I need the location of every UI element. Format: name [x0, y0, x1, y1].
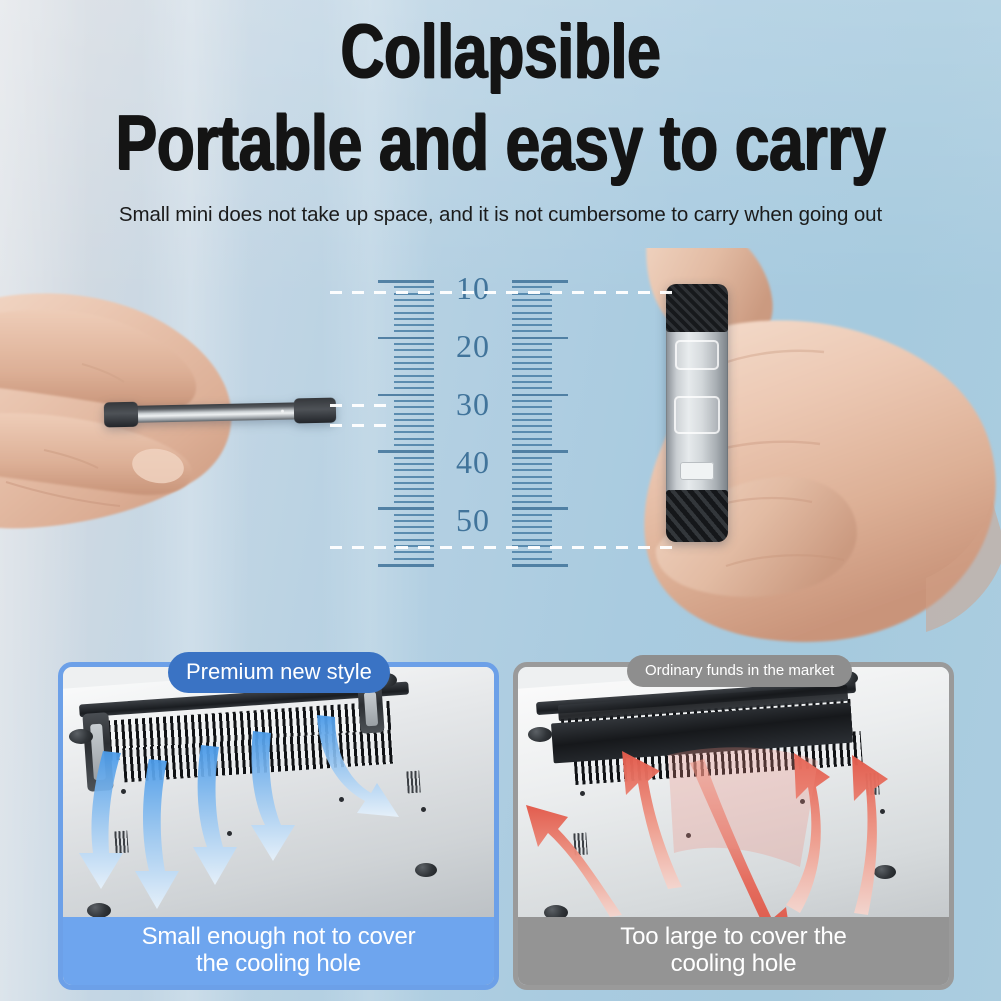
ruler-label-40: 40 [434, 444, 512, 481]
ruler-tick-minor [394, 444, 434, 446]
ruler-tick-minor [394, 375, 434, 377]
ruler-tick-minor [512, 431, 552, 433]
ruler-tick-minor [512, 558, 552, 560]
ruler-tick-minor [512, 312, 552, 314]
ruler-tick-minor [394, 299, 434, 301]
ruler-tick-minor [512, 286, 552, 288]
dashed-guide-profile-bottom [330, 424, 386, 427]
premium-caption-line1: Small enough not to cover [142, 924, 416, 951]
ruler-tick-minor [512, 362, 552, 364]
laptop-screw-d [421, 807, 426, 812]
laptop-screw-c [339, 797, 344, 802]
ruler-tick-minor [394, 532, 434, 534]
ruler-tick-minor [512, 526, 552, 528]
ruler-tick-minor [394, 501, 434, 503]
laptop-foot-right-a [528, 727, 552, 742]
comparison-panel-ordinary: Too large to cover the cooling hole [513, 662, 954, 990]
ruler-tick-minor [394, 362, 434, 364]
ruler-tick-minor [394, 368, 434, 370]
ruler-tick-minor [394, 488, 434, 490]
laptop-small-grill-b [406, 771, 421, 794]
ruler-tick-minor [512, 330, 552, 332]
subtitle-text: Small mini does not take up space, and i… [0, 203, 1001, 227]
ruler-tick-minor [394, 425, 434, 427]
ruler-tick-major [378, 564, 434, 567]
ruler-tick-minor [512, 532, 552, 534]
ruler-label-30: 30 [434, 386, 512, 423]
ruler-tick-minor [394, 318, 434, 320]
ordinary-caption-line2: cooling hole [671, 951, 797, 978]
ruler-tick-minor [394, 343, 434, 345]
ruler-tick-major [378, 507, 434, 510]
ruler-tick-minor [394, 476, 434, 478]
stand-profile-body [132, 402, 312, 423]
ruler-tick-minor [512, 381, 552, 383]
laptop-foot-left-bottom [87, 903, 111, 918]
headline-secondary: Portable and easy to carry [100, 103, 901, 181]
stand-clip-inner-left [90, 724, 106, 781]
laptop-small-grill-ra [573, 833, 588, 856]
ruler-tick-minor [394, 551, 434, 553]
measurement-ruler: 1020304050 [378, 278, 568, 568]
ruler-tick-major [378, 337, 434, 340]
ordinary-caption: Too large to cover the cooling hole [518, 917, 949, 985]
ruler-tick-minor [512, 356, 552, 358]
ruler-tick-minor [512, 514, 552, 516]
laptop-stand-side-profile [104, 398, 336, 429]
stand-clip-left [82, 712, 113, 792]
ruler-label-50: 50 [434, 502, 512, 539]
ruler-tick-minor [512, 476, 552, 478]
ruler-tick-major [378, 450, 434, 453]
ruler-tick-minor [394, 482, 434, 484]
premium-caption: Small enough not to cover the cooling ho… [63, 917, 494, 985]
ruler-tick-minor [394, 381, 434, 383]
laptop-screw-ra [580, 791, 585, 796]
stand-profile-cap-right [294, 398, 337, 424]
ruler-tick-minor [512, 299, 552, 301]
ruler-tick-minor [394, 349, 434, 351]
ruler-tick-minor [512, 488, 552, 490]
ruler-tick-minor [512, 457, 552, 459]
ruler-tick-minor [394, 356, 434, 358]
ruler-tick-minor [512, 318, 552, 320]
ruler-tick-minor [394, 413, 434, 415]
ruler-tick-minor [512, 520, 552, 522]
dashed-guide-profile-top [330, 404, 386, 407]
ruler-tick-minor [512, 349, 552, 351]
ruler-tick-minor [512, 324, 552, 326]
ruler-tick-minor [512, 368, 552, 370]
ruler-tick-minor [512, 501, 552, 503]
stand-profile-dot [281, 410, 284, 413]
ruler-tick-major [378, 394, 434, 397]
folded-laptop-stand [666, 284, 728, 542]
ruler-label-10: 10 [434, 270, 512, 307]
laptop-small-grill-rb [865, 773, 880, 796]
ruler-ticks-right [512, 278, 568, 568]
ruler-label-20: 20 [434, 328, 512, 365]
product-marketing-image: Collapsible Portable and easy to carry S… [0, 0, 1001, 1001]
right-hand-illustration [596, 248, 1001, 648]
ruler-tick-minor [394, 431, 434, 433]
ruler-tick-minor [394, 539, 434, 541]
ruler-tick-minor [394, 330, 434, 332]
stand-hinge-slot-middle [674, 396, 720, 434]
ruler-tick-major [512, 450, 568, 453]
ruler-tick-minor [394, 495, 434, 497]
laptop-small-grill-a [114, 831, 129, 854]
ruler-tick-major [512, 507, 568, 510]
ruler-tick-minor [512, 438, 552, 440]
laptop-screw-rc [800, 799, 805, 804]
headline-block: Collapsible Portable and easy to carry [0, 14, 1001, 181]
ruler-tick-minor [512, 400, 552, 402]
ruler-tick-major [512, 280, 568, 283]
laptop-foot-right-bottom [415, 863, 437, 877]
ruler-tick-minor [394, 400, 434, 402]
ruler-tick-minor [394, 438, 434, 440]
ruler-tick-major [512, 564, 568, 567]
ruler-tick-minor [512, 482, 552, 484]
ruler-tick-minor [394, 387, 434, 389]
laptop-screw-rb [686, 833, 691, 838]
ruler-tick-minor [512, 469, 552, 471]
ruler-tick-major [512, 394, 568, 397]
ruler-tick-minor [512, 406, 552, 408]
ruler-tick-minor [512, 375, 552, 377]
laptop-foot-left-top [69, 729, 93, 744]
laptop-screw-rd [880, 809, 885, 814]
ruler-tick-minor [512, 425, 552, 427]
ruler-tick-minor [512, 463, 552, 465]
laptop-screw-a [121, 789, 126, 794]
ruler-tick-minor [394, 520, 434, 522]
premium-caption-line2: the cooling hole [196, 951, 361, 978]
ordinary-caption-line1: Too large to cover the [620, 924, 846, 951]
ruler-tick-major [512, 337, 568, 340]
comparison-panel-premium: Small enough not to cover the cooling ho… [58, 662, 499, 990]
ruler-tick-minor [394, 526, 434, 528]
ruler-ticks-left [378, 278, 434, 568]
ruler-tick-minor [512, 343, 552, 345]
ruler-tick-minor [512, 305, 552, 307]
stand-profile-cap-left [104, 402, 139, 428]
badge-ordinary-funds: Ordinary funds in the market [627, 655, 852, 687]
ruler-tick-minor [394, 419, 434, 421]
left-hand-illustration [0, 268, 386, 628]
dashed-guide-bottom [330, 546, 680, 549]
ruler-tick-minor [512, 387, 552, 389]
laptop-foot-right-d [874, 865, 896, 879]
stand-foot-plate [680, 462, 714, 480]
ruler-tick-minor [394, 305, 434, 307]
badge-premium-new-style: Premium new style [168, 652, 390, 693]
ruler-tick-minor [512, 444, 552, 446]
ruler-tick-minor [512, 495, 552, 497]
ruler-tick-minor [512, 419, 552, 421]
stand-hinge-slot-upper [675, 340, 719, 370]
headline-primary: Collapsible [100, 14, 901, 89]
ruler-tick-minor [512, 539, 552, 541]
laptop-screw-b [227, 831, 232, 836]
stand-cap-bottom [666, 490, 728, 542]
ruler-tick-minor [394, 406, 434, 408]
ruler-tick-major [378, 280, 434, 283]
ruler-tick-minor [394, 558, 434, 560]
stand-clip-inner-right [364, 691, 378, 726]
ruler-tick-minor [512, 413, 552, 415]
ruler-tick-minor [394, 457, 434, 459]
dashed-guide-top [330, 291, 680, 294]
ruler-tick-minor [394, 286, 434, 288]
ruler-tick-minor [394, 469, 434, 471]
ruler-tick-minor [512, 551, 552, 553]
ruler-tick-minor [394, 312, 434, 314]
ruler-tick-minor [394, 324, 434, 326]
ruler-tick-minor [394, 514, 434, 516]
ruler-tick-minor [394, 463, 434, 465]
